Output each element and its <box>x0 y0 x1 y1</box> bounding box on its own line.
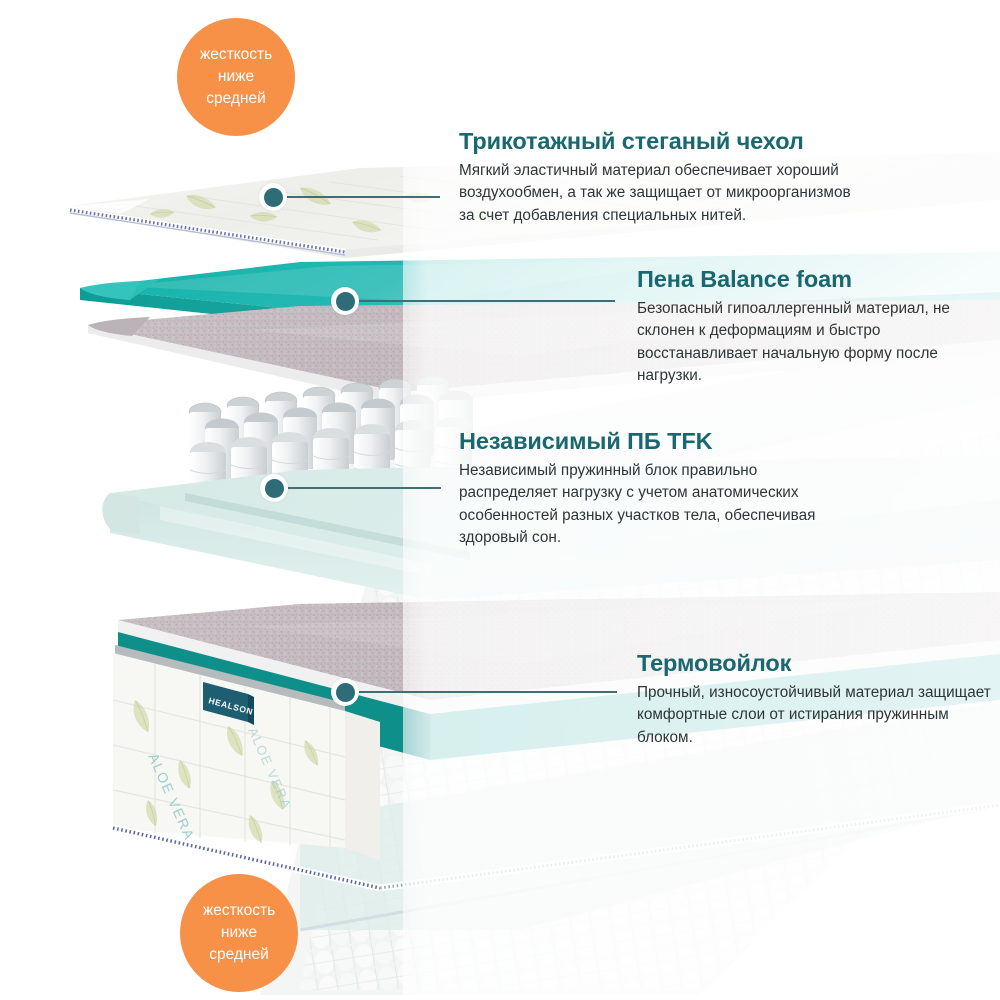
firmness-badge-top: жесткость ниже средней <box>177 18 295 136</box>
firmness-badge-line-2: ниже <box>221 922 257 944</box>
firmness-badge-line-1: жесткость <box>203 900 275 922</box>
mattress-layers-infographic: ALOE VERA ALOE VERA HEALSON <box>0 0 1000 1000</box>
leader-line-foam <box>355 300 615 302</box>
callout-marker-foam[interactable] <box>331 287 359 315</box>
marker-dot-icon <box>336 292 355 311</box>
callout-title: Трикотажный стеганый чехол <box>459 128 859 155</box>
marker-dot-icon <box>265 479 284 498</box>
callout-thermo-felt: Термовойлок Прочный, износоустойчивый ма… <box>637 650 1000 749</box>
firmness-badge-line-2: ниже <box>218 66 254 88</box>
marker-dot-icon <box>336 683 355 702</box>
callout-body: Прочный, износоустойчивый материал защищ… <box>637 682 1000 749</box>
leader-line-cover <box>283 196 440 198</box>
firmness-badge-line-1: жесткость <box>200 44 272 66</box>
callout-marker-felt[interactable] <box>331 678 359 706</box>
callout-title: Термовойлок <box>637 650 1000 677</box>
callout-independent-spring-block: Независимый ПБ TFK Независимый пружинный… <box>459 428 859 549</box>
firmness-badge-bottom: жесткость ниже средней <box>180 874 298 992</box>
firmness-badge-line-3: средней <box>209 944 269 966</box>
callout-marker-springs[interactable] <box>260 474 288 502</box>
callout-title: Независимый ПБ TFK <box>459 428 859 455</box>
leader-line-felt <box>355 691 617 693</box>
leader-line-springs <box>284 487 441 489</box>
callout-body: Безопасный гипоаллергенный материал, не … <box>637 298 1000 387</box>
firmness-badge-line-3: средней <box>206 88 266 110</box>
marker-dot-icon <box>264 188 283 207</box>
callout-marker-cover[interactable] <box>259 183 287 211</box>
callout-balance-foam: Пена Balance foam Безопасный гипоаллерге… <box>637 266 1000 387</box>
callout-knitted-quilted-cover: Трикотажный стеганый чехол Мягкий эласти… <box>459 128 859 227</box>
callout-title: Пена Balance foam <box>637 266 1000 293</box>
callout-body: Независимый пружинный блок правильно рас… <box>459 460 859 549</box>
callout-body: Мягкий эластичный материал обеспечивает … <box>459 160 859 227</box>
